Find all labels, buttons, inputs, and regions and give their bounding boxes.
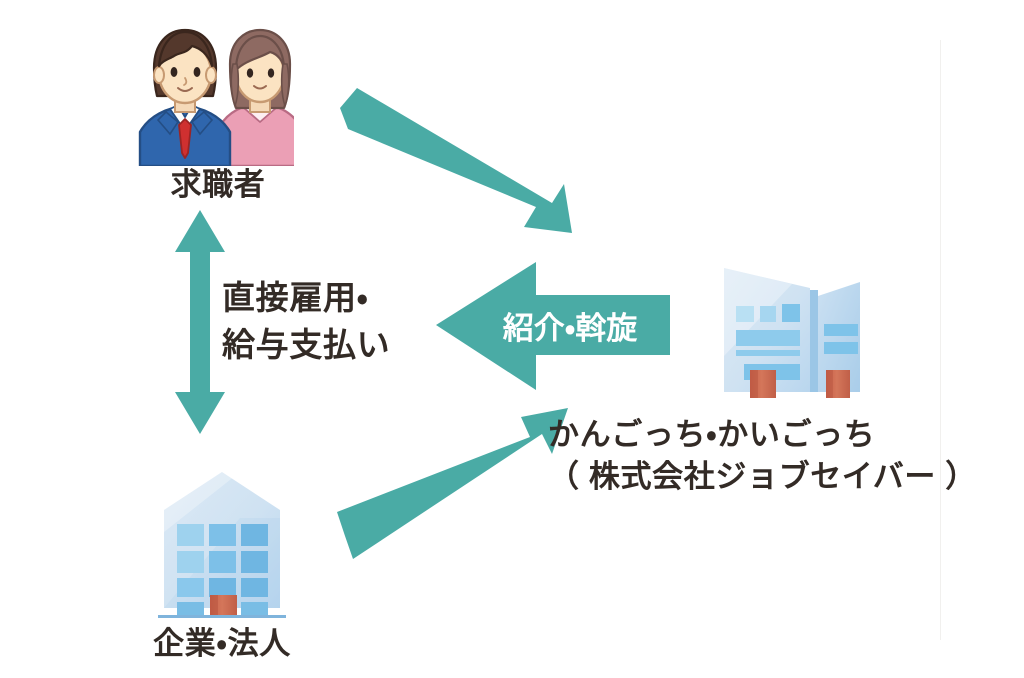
- agency-label: かんごっち・かいごっち （ 株式会社ジョブセイバー ）: [548, 414, 977, 498]
- two-people-icon: [132, 16, 294, 166]
- arrow-jobseeker-company: [175, 210, 225, 434]
- direct-employment-line1: 直接雇用・: [222, 275, 390, 322]
- direct-employment-line2: 給与支払い: [222, 322, 390, 369]
- hospital-complex-icon: [714, 246, 870, 398]
- arrow-jobseeker-to-agency: [340, 88, 572, 233]
- jobseeker-label: 求職者: [0, 165, 436, 206]
- office-building-icon: [150, 468, 295, 618]
- agency-name-line1: かんごっち・かいごっち: [548, 414, 977, 456]
- direct-employment-label: 直接雇用・ 給与支払い: [222, 275, 390, 369]
- agency-name-line2: （ 株式会社ジョブセイバー ）: [548, 456, 977, 498]
- diagram-canvas: 紹介・斡旋: [0, 0, 1024, 678]
- company-label: 企業・法人: [20, 624, 424, 665]
- arrow-agency-to-jobseeker: [436, 262, 670, 390]
- arrow-company-to-agency: [337, 408, 568, 559]
